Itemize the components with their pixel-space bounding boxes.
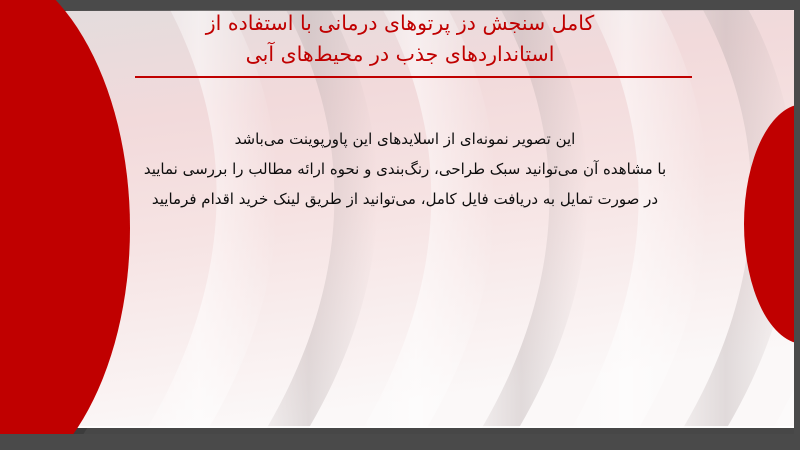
body-line-2: با مشاهده آن می‌توانید سبک طراحی، رنگ‌بن… [98, 154, 712, 184]
slide-body: این تصویر نمونه‌ای از اسلایدهای این پاور… [98, 124, 712, 214]
frame-bottom-band [0, 434, 800, 450]
slide-title: کامل سنجش دز پرتوهای درمانی با استفاده ا… [108, 8, 692, 70]
body-line-1: این تصویر نمونه‌ای از اسلایدهای این پاور… [98, 124, 712, 154]
frame-right-band [794, 0, 800, 450]
title-underline-rule [135, 76, 692, 78]
title-line-1: کامل سنجش دز پرتوهای درمانی با استفاده ا… [108, 8, 692, 39]
title-line-2: استانداردهای جذب در محیط‌های آبی [108, 39, 692, 70]
presentation-slide: کامل سنجش دز پرتوهای درمانی با استفاده ا… [0, 0, 800, 450]
body-line-3: در صورت تمایل به دریافت فایل کامل، می‌تو… [98, 184, 712, 214]
